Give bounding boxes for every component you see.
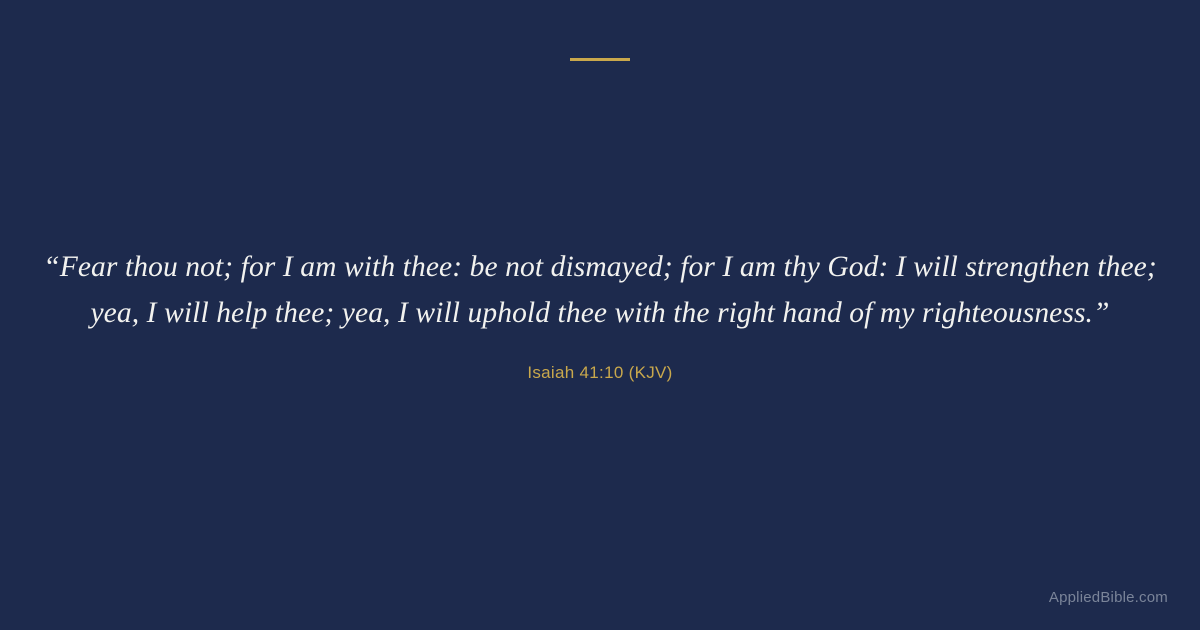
quote-block: “Fear thou not; for I am with thee: be n… bbox=[0, 244, 1200, 336]
site-brand-label: AppliedBible.com bbox=[1049, 589, 1168, 606]
verse-quote-text: “Fear thou not; for I am with thee: be n… bbox=[0, 244, 1200, 336]
verse-citation: Isaiah 41:10 (KJV) bbox=[0, 363, 1200, 383]
gold-rule-icon bbox=[570, 58, 630, 61]
verse-card: “Fear thou not; for I am with thee: be n… bbox=[0, 0, 1200, 630]
divider-container bbox=[0, 58, 1200, 61]
